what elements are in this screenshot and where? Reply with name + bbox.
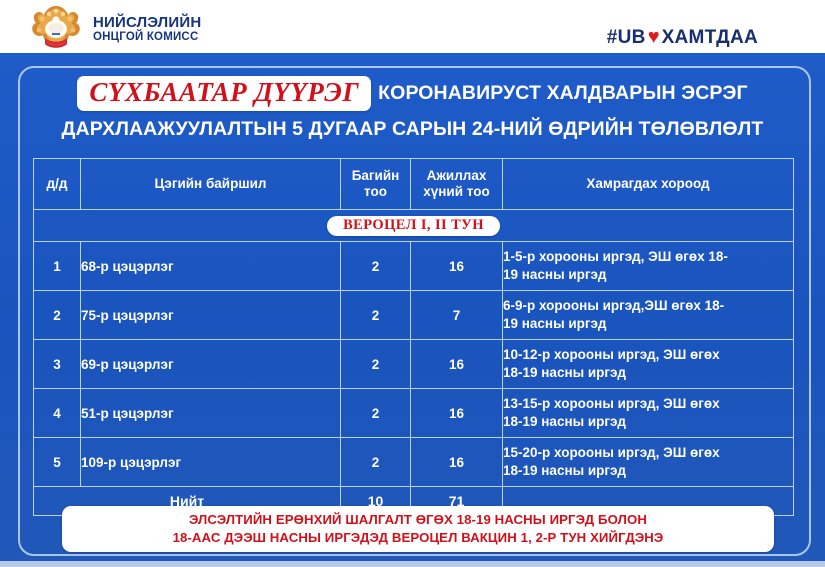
ulaanbaatar-city-emblem-icon xyxy=(28,2,84,54)
cell-teams: 2 xyxy=(341,389,411,438)
cell-index: 5 xyxy=(34,438,81,487)
title-line-1-rest: КОРОНАВИРУСТ ХАЛДВАРЫН ЭСРЭГ xyxy=(378,82,747,105)
vaccine-section-row: ВЕРОЦЕЛ I, II ТУН xyxy=(34,210,794,242)
table-row: 5 109-р цэцэрлэг 2 16 15-20-р хорооны ир… xyxy=(34,438,794,487)
cell-location: 75-р цэцэрлэг xyxy=(81,291,341,340)
campaign-hashtag: #UB ♥ ХАМТДАА xyxy=(598,25,767,52)
column-header-staff-line2: хүний тоо xyxy=(411,184,502,200)
cell-khoroo-line1: 6-9-р хорооны иргэд,ЭШ өгөх 18- xyxy=(503,297,793,315)
vaccination-schedule-table-wrapper: д/д Цэгийн байршил Багийн тоо Ажиллах хү… xyxy=(33,158,793,516)
table-header-row: д/д Цэгийн байршил Багийн тоо Ажиллах хү… xyxy=(34,159,794,210)
district-badge: СҮХБААТАР ДҮҮРЭГ xyxy=(77,76,371,111)
footer-notice-line-1: ЭЛСЭЛТИЙН ЕРӨНХИЙ ШАЛГАЛТ ӨГӨХ 18-19 НАС… xyxy=(68,511,768,529)
column-header-staff: Ажиллах хүний тоо xyxy=(411,159,503,210)
table-row: 2 75-р цэцэрлэг 2 7 6-9-р хорооны иргэд,… xyxy=(34,291,794,340)
cell-khoroo-line2: 18-19 насны иргэд xyxy=(503,462,793,480)
cell-teams: 2 xyxy=(341,242,411,291)
poster-bottom-edge xyxy=(0,561,825,567)
cell-teams: 2 xyxy=(341,291,411,340)
organization-branding: НИЙСЛЭЛИЙН ОНЦГОЙ КОМИСС xyxy=(28,2,201,54)
brand-line-1: НИЙСЛЭЛИЙН xyxy=(93,15,201,32)
cell-location: 51-р цэцэрлэг xyxy=(81,389,341,438)
vaccine-section-cell: ВЕРОЦЕЛ I, II ТУН xyxy=(34,210,794,242)
vaccination-plan-poster: НИЙСЛЭЛИЙН ОНЦГОЙ КОМИСС #UB ♥ ХАМТДАА С… xyxy=(0,0,825,567)
cell-teams: 2 xyxy=(341,340,411,389)
column-header-location: Цэгийн байршил xyxy=(81,159,341,210)
column-header-teams-line2: тоо xyxy=(341,184,410,200)
footer-notice-banner: ЭЛСЭЛТИЙН ЕРӨНХИЙ ШАЛГАЛТ ӨГӨХ 18-19 НАС… xyxy=(62,506,774,552)
cell-staff: 16 xyxy=(411,438,503,487)
cell-khoroo: 6-9-р хорооны иргэд,ЭШ өгөх 18- 19 насны… xyxy=(503,291,794,340)
cell-index: 2 xyxy=(34,291,81,340)
cell-khoroo: 1-5-р хорооны иргэд, ЭШ өгөх 18- 19 насн… xyxy=(503,242,794,291)
table-row: 1 68-р цэцэрлэг 2 16 1-5-р хорооны иргэд… xyxy=(34,242,794,291)
cell-khoroo: 10-12-р хорооны иргэд, ЭШ өгөх 18-19 нас… xyxy=(503,340,794,389)
cell-teams: 2 xyxy=(341,438,411,487)
cell-khoroo: 15-20-р хорооны иргэд, ЭШ өгөх 18-19 нас… xyxy=(503,438,794,487)
cell-staff: 16 xyxy=(411,340,503,389)
table-row: 3 69-р цэцэрлэг 2 16 10-12-р хорооны ирг… xyxy=(34,340,794,389)
cell-khoroo-line2: 18-19 насны иргэд xyxy=(503,364,793,382)
cell-khoroo: 13-15-р хорооны иргэд, ЭШ өгөх 18-19 нас… xyxy=(503,389,794,438)
cell-staff: 16 xyxy=(411,389,503,438)
cell-khoroo-line2: 19 насны иргэд xyxy=(503,315,793,333)
table-header: д/д Цэгийн байршил Багийн тоо Ажиллах хү… xyxy=(34,159,794,210)
title-line-1: СҮХБААТАР ДҮҮРЭГ КОРОНАВИРУСТ ХАЛДВАРЫН … xyxy=(34,76,791,111)
hashtag-prefix: #UB xyxy=(607,27,646,49)
cell-khoroo-line1: 10-12-р хорооны иргэд, ЭШ өгөх xyxy=(503,346,793,364)
cell-index: 3 xyxy=(34,340,81,389)
vaccine-section-badge: ВЕРОЦЕЛ I, II ТУН xyxy=(327,216,500,236)
cell-location: 69-р цэцэрлэг xyxy=(81,340,341,389)
column-header-teams: Багийн тоо xyxy=(341,159,411,210)
column-header-index: д/д xyxy=(34,159,81,210)
cell-index: 4 xyxy=(34,389,81,438)
footer-notice-line-2: 18-ААС ДЭЭШ НАСНЫ ИРГЭДЭД ВЕРОЦЕЛ ВАКЦИН… xyxy=(68,529,768,547)
column-header-teams-line1: Багийн xyxy=(341,168,410,184)
table-row: 4 51-р цэцэрлэг 2 16 13-15-р хорооны ирг… xyxy=(34,389,794,438)
table-body: ВЕРОЦЕЛ I, II ТУН 1 68-р цэцэрлэг 2 16 1… xyxy=(34,210,794,516)
cell-khoroo-line1: 1-5-р хорооны иргэд, ЭШ өгөх 18- xyxy=(503,248,793,266)
cell-staff: 7 xyxy=(411,291,503,340)
brand-line-2: ОНЦГОЙ КОМИСС xyxy=(93,31,201,44)
title-line-2: ДАРХЛААЖУУЛАЛТЫН 5 ДУГААР САРЫН 24-НИЙ Ө… xyxy=(34,118,791,141)
heart-icon: ♥ xyxy=(648,27,660,47)
cell-khoroo-line1: 13-15-р хорооны иргэд, ЭШ өгөх xyxy=(503,395,793,413)
page-title: СҮХБААТАР ДҮҮРЭГ КОРОНАВИРУСТ ХАЛДВАРЫН … xyxy=(34,76,791,141)
hashtag-suffix: ХАМТДАА xyxy=(662,27,758,49)
cell-location: 109-р цэцэрлэг xyxy=(81,438,341,487)
cell-khoroo-line1: 15-20-р хорооны иргэд, ЭШ өгөх xyxy=(503,444,793,462)
cell-khoroo-line2: 18-19 насны иргэд xyxy=(503,413,793,431)
cell-location: 68-р цэцэрлэг xyxy=(81,242,341,291)
cell-index: 1 xyxy=(34,242,81,291)
cell-staff: 16 xyxy=(411,242,503,291)
column-header-khoroo: Хамрагдах хороод xyxy=(503,159,794,210)
organization-name: НИЙСЛЭЛИЙН ОНЦГОЙ КОМИСС xyxy=(93,12,201,45)
vaccination-schedule-table: д/д Цэгийн байршил Багийн тоо Ажиллах хү… xyxy=(33,158,794,516)
cell-khoroo-line2: 19 насны иргэд xyxy=(503,266,793,284)
column-header-staff-line1: Ажиллах xyxy=(411,168,502,184)
